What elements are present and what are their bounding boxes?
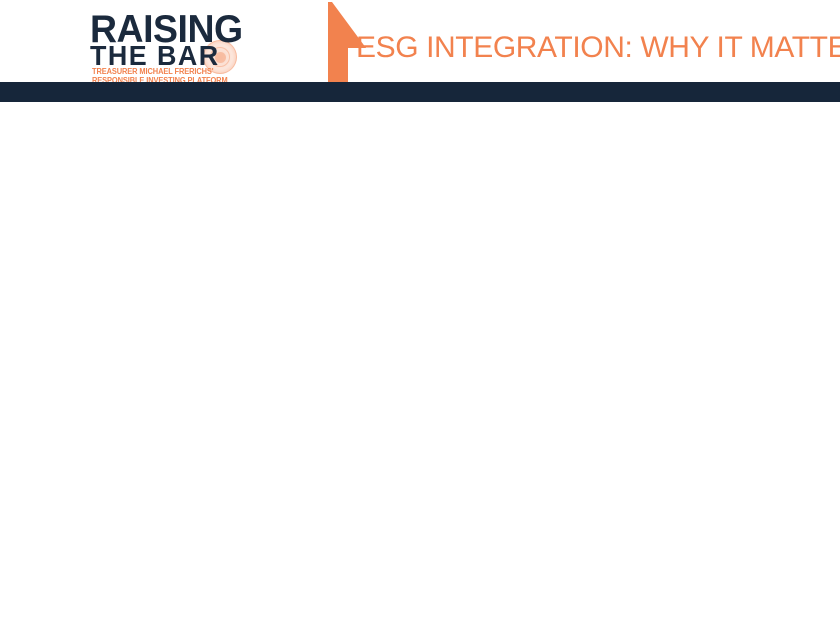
content-placeholder[interactable] bbox=[56, 130, 784, 594]
up-arrow-icon bbox=[230, 2, 370, 86]
slide-body bbox=[0, 102, 840, 630]
logo-wordmark-line2: THE BAR bbox=[90, 42, 220, 70]
page-title: ESG INTEGRATION: WHY IT MATTERS bbox=[356, 31, 826, 65]
slide-canvas: RAISING THE BAR TREASURER MICHAEL FRERIC… bbox=[0, 0, 840, 630]
header-divider-bar bbox=[0, 82, 840, 102]
raising-the-bar-logo: RAISING THE BAR TREASURER MICHAEL FRERIC… bbox=[90, 2, 280, 86]
